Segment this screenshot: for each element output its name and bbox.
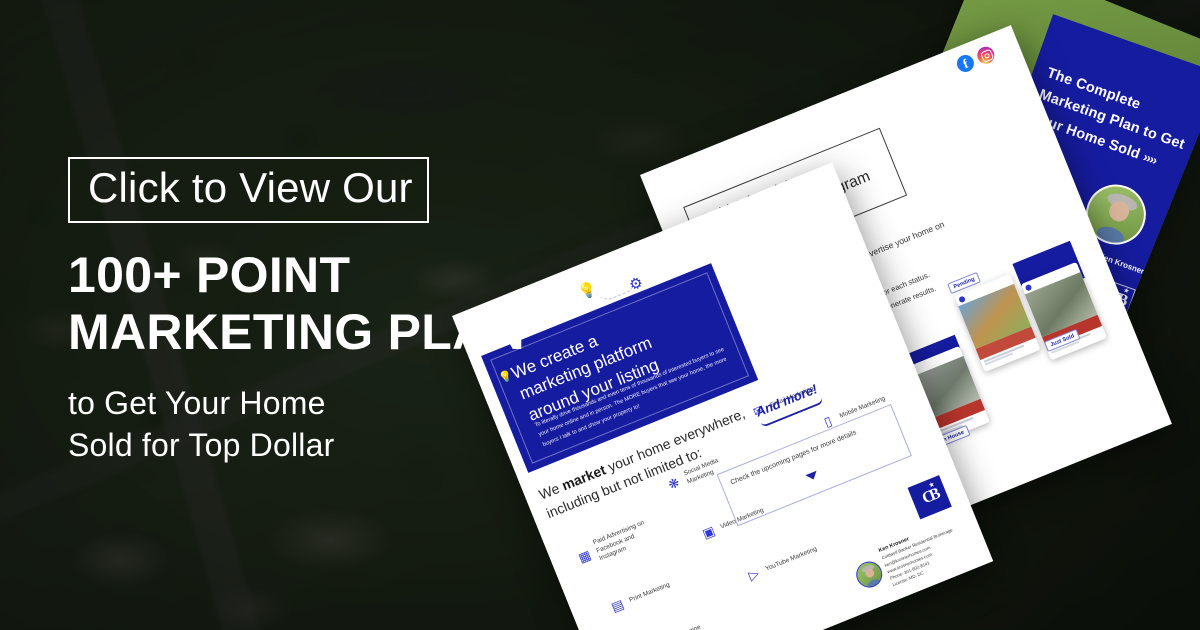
channel-paid-advertising: ▦ Paid Advertising on Facebook and Insta…: [572, 518, 656, 572]
agent-contact-lines: Ken Krosner Coldwell Banker Residential …: [877, 519, 964, 589]
channel-youtube: ▷ YouTube Marketing: [742, 540, 823, 587]
agent-avatar: [852, 557, 886, 591]
channel-label: YouTube Marketing: [764, 544, 821, 574]
headline-line-1: 100+ POINT: [68, 247, 538, 304]
click-to-view-cta[interactable]: Click to View Our: [68, 157, 429, 223]
facebook-instagram-icon: ▦: [573, 545, 596, 568]
channel-search-engine: 🔍 Search Engine Marketing: [640, 618, 721, 630]
facebook-icon: f: [954, 52, 976, 74]
youtube-icon: ▷: [742, 563, 765, 586]
instagram-icon: [975, 44, 997, 66]
card-avatar-icon: [958, 295, 966, 303]
subheadline-line-1: to Get Your Home: [68, 383, 538, 425]
headline-line-2: MARKETING PLAN: [68, 304, 538, 361]
social-icons-group: f: [954, 44, 997, 74]
subheadline-line-2: Sold for Top Dollar: [68, 425, 538, 467]
chevrons-icon: ››››: [1141, 149, 1159, 168]
channel-print: ▤ Print Marketing: [606, 571, 687, 618]
cta-label: Click to View Our: [88, 167, 413, 209]
cb-logo-mark: CB: [920, 486, 940, 508]
coldwell-banker-logo-page: CB: [908, 475, 952, 519]
hero-subheadline: to Get Your Home Sold for Top Dollar: [68, 383, 538, 466]
card-avatar-icon: [1024, 283, 1032, 291]
print-icon: ▤: [606, 594, 629, 617]
video-camera-icon: ▣: [697, 521, 720, 544]
promo-banner: The Complete Marketing Plan to Get Your …: [0, 0, 1200, 630]
hero-headline-block: Click to View Our 100+ POINT MARKETING P…: [68, 157, 538, 466]
channel-label: Print Marketing: [628, 575, 685, 605]
channel-label: Search Engine Marketing: [660, 618, 720, 630]
channel-label: Paid Advertising on Facebook and Instagr…: [592, 518, 655, 564]
